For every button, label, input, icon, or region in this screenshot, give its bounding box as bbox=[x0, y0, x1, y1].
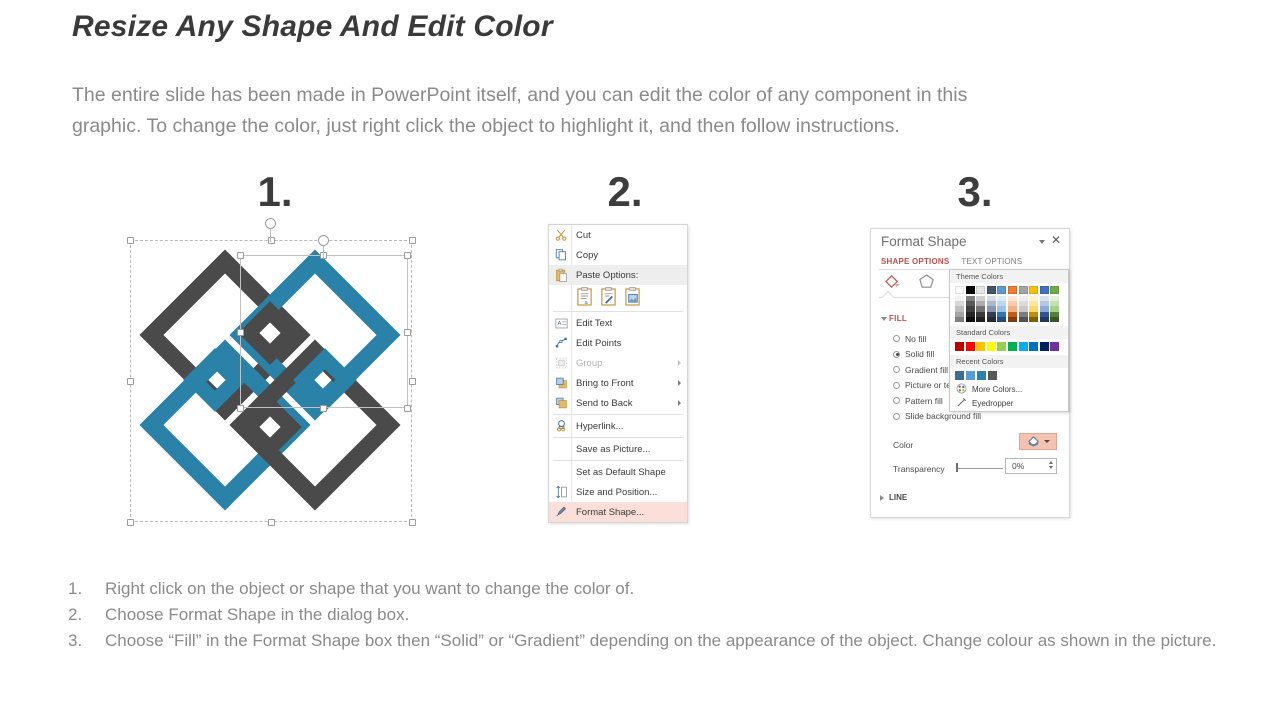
menu-separator bbox=[553, 414, 683, 415]
theme-colors-grid[interactable] bbox=[950, 283, 1068, 326]
theme-color-shade-swatch[interactable] bbox=[997, 317, 1006, 322]
eyedropper-label: Eyedropper bbox=[972, 399, 1013, 408]
recent-color-swatch[interactable] bbox=[977, 371, 986, 380]
inner-handle-ne[interactable] bbox=[404, 252, 411, 259]
copy-icon bbox=[554, 248, 569, 263]
theme-color-column[interactable] bbox=[1029, 286, 1038, 322]
spinner-buttons[interactable] bbox=[1049, 461, 1053, 469]
subtitle-line-2: graphic. To change the color, just right… bbox=[72, 111, 1212, 142]
instruction-text: Choose Format Shape in the dialog box. bbox=[105, 602, 409, 627]
spinner-down-icon[interactable] bbox=[1049, 466, 1053, 469]
recent-color-swatch[interactable] bbox=[966, 371, 975, 380]
tab-text-options[interactable]: TEXT OPTIONS bbox=[961, 257, 1022, 266]
context-menu-label: Edit Text bbox=[576, 318, 612, 329]
step-number-2: 2. bbox=[565, 168, 685, 216]
group-icon bbox=[554, 356, 569, 371]
context-menu-label: Hyperlink... bbox=[576, 421, 624, 432]
menu-separator bbox=[553, 460, 683, 461]
standard-color-swatch[interactable] bbox=[1019, 342, 1028, 351]
chevron-down-icon[interactable] bbox=[1044, 440, 1050, 443]
context-menu-item-group[interactable]: Group bbox=[549, 353, 687, 373]
selection-handle-ne[interactable] bbox=[409, 237, 416, 244]
fill-option-label: Slide background fill bbox=[905, 411, 981, 421]
context-menu-label: Format Shape... bbox=[576, 507, 644, 518]
instruction-number: 2. bbox=[68, 602, 105, 627]
standard-color-swatch[interactable] bbox=[955, 342, 964, 351]
context-menu-label: Bring to Front bbox=[576, 378, 634, 389]
theme-color-shade-swatch[interactable] bbox=[955, 317, 964, 322]
theme-color-column[interactable] bbox=[997, 286, 1006, 322]
page-subtitle: The entire slide has been made in PowerP… bbox=[72, 80, 1212, 142]
scissors-icon bbox=[554, 228, 569, 243]
context-menu-item-copy[interactable]: Copy bbox=[549, 245, 687, 265]
recent-colors-header: Recent Colors bbox=[950, 355, 1068, 368]
theme-color-shade-swatch[interactable] bbox=[1040, 317, 1049, 322]
format-shape-pane[interactable]: Format Shape ✕ SHAPE OPTIONS TEXT OPTION… bbox=[870, 228, 1070, 518]
shape-illustration-panel bbox=[125, 235, 415, 525]
transparency-slider-track[interactable] bbox=[957, 468, 1003, 469]
context-menu-item-paste-options: Paste Options: bbox=[549, 265, 687, 285]
instruction-item-2: 2. Choose Format Shape in the dialog box… bbox=[68, 602, 1268, 627]
theme-color-shade-swatch[interactable] bbox=[1019, 317, 1028, 322]
inner-handle-nw[interactable] bbox=[237, 252, 244, 259]
instruction-item-1: 1. Right click on the object or shape th… bbox=[68, 576, 1268, 601]
theme-color-shade-swatch[interactable] bbox=[1008, 317, 1017, 322]
standard-color-swatch[interactable] bbox=[1050, 342, 1059, 351]
context-menu-label: Group bbox=[576, 358, 602, 369]
instructions-list: 1. Right click on the object or shape th… bbox=[68, 576, 1268, 653]
theme-color-shade-swatch[interactable] bbox=[966, 317, 975, 322]
rotation-handle-inner[interactable] bbox=[318, 235, 329, 246]
standard-color-swatch[interactable] bbox=[1029, 342, 1038, 351]
radio-icon[interactable] bbox=[893, 382, 900, 389]
chevron-right-icon bbox=[678, 360, 681, 366]
fill-expand-triangle-icon[interactable] bbox=[881, 317, 887, 321]
selection-handle-se[interactable] bbox=[409, 519, 416, 526]
instruction-text: Right click on the object or shape that … bbox=[105, 576, 634, 601]
spinner-up-icon[interactable] bbox=[1049, 461, 1053, 464]
step-number-1: 1. bbox=[215, 168, 335, 216]
theme-color-shade-swatch[interactable] bbox=[976, 317, 985, 322]
send-back-icon bbox=[554, 396, 569, 411]
theme-color-swatch[interactable] bbox=[1008, 286, 1017, 294]
line-section-header: LINE bbox=[889, 493, 907, 502]
inner-handle-e[interactable] bbox=[404, 329, 411, 336]
inner-handle-w[interactable] bbox=[237, 329, 244, 336]
paste-options-row[interactable]: a bbox=[549, 285, 687, 310]
theme-color-column[interactable] bbox=[966, 286, 975, 322]
theme-color-shade-swatch[interactable] bbox=[1029, 317, 1038, 322]
standard-colors-row[interactable] bbox=[950, 339, 1068, 355]
theme-color-shade-swatch[interactable] bbox=[987, 317, 996, 322]
theme-color-column[interactable] bbox=[1019, 286, 1028, 322]
theme-color-swatch[interactable] bbox=[987, 286, 996, 294]
format-shape-icon bbox=[554, 505, 569, 520]
standard-color-swatch[interactable] bbox=[966, 342, 975, 351]
inner-selection-box[interactable] bbox=[240, 255, 408, 408]
recent-color-swatch[interactable] bbox=[955, 371, 964, 380]
context-menu-item-send-to-back[interactable]: Send to Back bbox=[549, 393, 687, 413]
theme-color-column[interactable] bbox=[1040, 286, 1049, 322]
more-colors-label: More Colors... bbox=[972, 385, 1022, 394]
edit-text-icon: A bbox=[554, 316, 569, 331]
transparency-label: Transparency bbox=[893, 464, 945, 474]
context-menu-item-size-and-position[interactable]: Size and Position... bbox=[549, 482, 687, 502]
context-menu[interactable]: Cut Copy Paste Options: bbox=[548, 224, 688, 523]
hyperlink-icon bbox=[554, 419, 569, 434]
radio-icon[interactable] bbox=[893, 366, 900, 373]
format-shape-tabs[interactable]: SHAPE OPTIONS TEXT OPTIONS bbox=[881, 257, 1022, 266]
context-menu-item-format-shape[interactable]: Format Shape... bbox=[549, 502, 687, 522]
standard-color-swatch[interactable] bbox=[976, 342, 985, 351]
theme-color-column[interactable] bbox=[1008, 286, 1017, 322]
paste-picture-icon[interactable] bbox=[624, 287, 641, 306]
context-menu-label: Copy bbox=[576, 250, 598, 261]
theme-color-swatch[interactable] bbox=[1019, 286, 1028, 294]
inner-handle-s[interactable] bbox=[320, 405, 327, 412]
paste-keep-text-icon[interactable]: a bbox=[576, 287, 593, 306]
theme-color-swatch[interactable] bbox=[955, 286, 964, 294]
theme-color-column[interactable] bbox=[976, 286, 985, 322]
radio-icon-selected[interactable] bbox=[893, 351, 900, 358]
context-menu-item-set-default-shape[interactable]: Set as Default Shape bbox=[549, 462, 687, 482]
svg-text:A: A bbox=[557, 321, 561, 327]
recent-color-swatch[interactable] bbox=[988, 371, 997, 380]
theme-color-swatch[interactable] bbox=[966, 286, 975, 294]
selection-handle-nw[interactable] bbox=[127, 237, 134, 244]
menu-separator bbox=[553, 311, 683, 312]
size-position-icon bbox=[554, 485, 569, 500]
chevron-right-icon bbox=[678, 400, 681, 406]
context-menu-label: Set as Default Shape bbox=[576, 467, 666, 478]
context-menu-item-edit-points[interactable]: Edit Points bbox=[549, 333, 687, 353]
close-icon[interactable]: ✕ bbox=[1051, 234, 1061, 246]
fill-option-label: Solid fill bbox=[905, 349, 934, 359]
standard-colors-header: Standard Colors bbox=[950, 326, 1068, 339]
context-menu-label: Save as Picture... bbox=[576, 444, 650, 455]
context-menu-item-edit-text[interactable]: A Edit Text bbox=[549, 313, 687, 333]
context-menu-label: Send to Back bbox=[576, 398, 633, 409]
radio-icon[interactable] bbox=[893, 335, 900, 342]
menu-separator bbox=[553, 437, 683, 438]
fill-option-label: No fill bbox=[905, 334, 926, 344]
fill-option-label: Gradient fill bbox=[905, 365, 948, 375]
rotation-handle-outer[interactable] bbox=[265, 218, 276, 229]
theme-color-column[interactable] bbox=[955, 286, 964, 322]
theme-color-swatch[interactable] bbox=[997, 286, 1006, 294]
step-number-3: 3. bbox=[915, 168, 1035, 216]
inner-handle-se[interactable] bbox=[404, 405, 411, 412]
fill-option-label: Pattern fill bbox=[905, 396, 943, 406]
selection-handle-s[interactable] bbox=[268, 519, 275, 526]
subtitle-line-1: The entire slide has been made in PowerP… bbox=[72, 84, 967, 106]
fill-bucket-icon bbox=[1026, 435, 1041, 448]
theme-colors-header: Theme Colors bbox=[950, 270, 1068, 283]
selection-handle-e[interactable] bbox=[409, 378, 416, 385]
fill-section-header: FILL bbox=[889, 314, 907, 323]
theme-color-swatch[interactable] bbox=[1050, 286, 1059, 294]
instruction-text: Choose “Fill” in the Format Shape box th… bbox=[105, 628, 1216, 653]
theme-color-swatch[interactable] bbox=[1040, 286, 1049, 294]
chevron-right-icon bbox=[678, 380, 681, 386]
tab-shape-options[interactable]: SHAPE OPTIONS bbox=[881, 257, 949, 266]
theme-color-column[interactable] bbox=[1050, 286, 1059, 322]
color-picker-button[interactable] bbox=[1019, 433, 1057, 450]
transparency-value-field[interactable]: 0% bbox=[1005, 458, 1057, 474]
standard-color-swatch[interactable] bbox=[1008, 342, 1017, 351]
context-menu-item-save-as-picture[interactable]: Save as Picture... bbox=[549, 439, 687, 459]
context-menu-item-cut[interactable]: Cut bbox=[549, 225, 687, 245]
fill-line-icon[interactable] bbox=[883, 273, 902, 292]
edit-points-icon bbox=[554, 336, 569, 351]
more-colors-item[interactable]: More Colors... bbox=[950, 383, 1068, 397]
inner-handle-sw[interactable] bbox=[237, 405, 244, 412]
radio-icon[interactable] bbox=[893, 397, 900, 404]
selection-handle-w[interactable] bbox=[127, 378, 134, 385]
theme-color-column[interactable] bbox=[987, 286, 996, 322]
standard-color-swatch[interactable] bbox=[1040, 342, 1049, 351]
page-title: Resize Any Shape And Edit Color bbox=[72, 10, 553, 44]
context-menu-item-bring-to-front[interactable]: Bring to Front bbox=[549, 373, 687, 393]
theme-color-swatch[interactable] bbox=[1029, 286, 1038, 294]
eyedropper-icon bbox=[956, 397, 967, 410]
paste-icon bbox=[554, 268, 569, 283]
standard-color-swatch[interactable] bbox=[997, 342, 1006, 351]
theme-color-shade-swatch[interactable] bbox=[1050, 317, 1059, 322]
standard-color-swatch[interactable] bbox=[987, 342, 996, 351]
recent-colors-row[interactable] bbox=[950, 368, 1068, 383]
context-menu-label: Size and Position... bbox=[576, 487, 657, 498]
selection-handle-sw[interactable] bbox=[127, 519, 134, 526]
slide-root: Resize Any Shape And Edit Color The enti… bbox=[0, 0, 1280, 720]
bring-front-icon bbox=[554, 376, 569, 391]
line-expand-triangle-icon[interactable] bbox=[880, 495, 884, 501]
context-menu-item-hyperlink[interactable]: Hyperlink... bbox=[549, 416, 687, 436]
format-shape-title: Format Shape bbox=[881, 234, 967, 249]
chevron-down-icon[interactable] bbox=[1039, 240, 1045, 244]
instruction-number: 3. bbox=[68, 628, 105, 653]
transparency-slider-knob[interactable] bbox=[956, 463, 958, 472]
theme-color-swatch[interactable] bbox=[976, 286, 985, 294]
context-menu-label: Edit Points bbox=[576, 338, 621, 349]
effects-icon[interactable] bbox=[918, 273, 935, 292]
context-menu-label: Paste Options: bbox=[576, 270, 638, 281]
radio-icon[interactable] bbox=[893, 413, 900, 420]
transparency-value: 0% bbox=[1012, 461, 1024, 471]
color-picker-flyout[interactable]: Theme Colors Standard Colors Recent Colo… bbox=[949, 269, 1069, 412]
paste-keep-formatting-icon[interactable] bbox=[600, 287, 617, 306]
context-menu-label: Cut bbox=[576, 230, 591, 241]
palette-icon bbox=[956, 383, 967, 396]
color-label: Color bbox=[893, 440, 913, 450]
eyedropper-item[interactable]: Eyedropper bbox=[950, 397, 1068, 411]
instruction-number: 1. bbox=[68, 576, 105, 601]
instruction-item-3: 3. Choose “Fill” in the Format Shape box… bbox=[68, 628, 1268, 653]
